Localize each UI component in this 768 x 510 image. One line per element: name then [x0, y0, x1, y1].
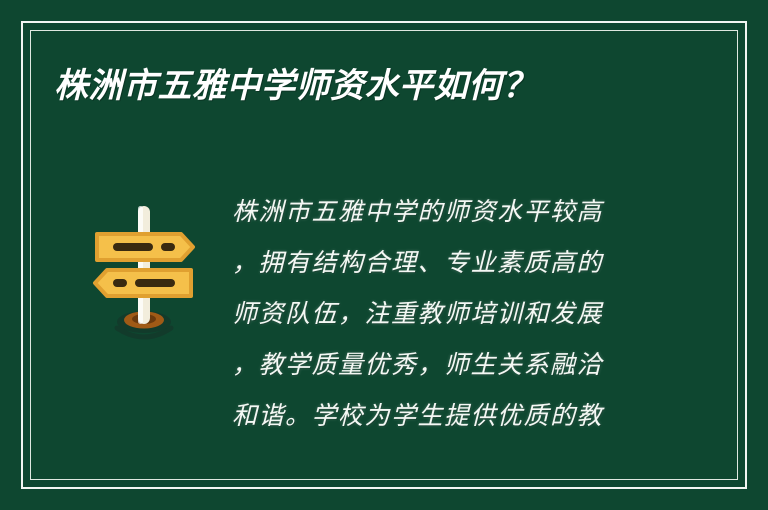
body-line: 株洲市五雅中学的师资水平较高 — [232, 186, 712, 237]
answer-card: 株洲市五雅中学师资水平如何？ — [0, 0, 768, 510]
body-line: 师资队伍，注重教师培训和发展 — [232, 288, 712, 339]
icon-container — [56, 186, 232, 350]
body-line: ，拥有结构合理、专业素质高的 — [232, 237, 712, 288]
body-line: ，教学质量优秀，师生关系融洽 — [232, 339, 712, 390]
signpost-icon — [89, 200, 199, 350]
answer-body-text: 株洲市五雅中学的师资水平较高 ，拥有结构合理、专业素质高的 师资队伍，注重教师培… — [232, 186, 712, 441]
content-area: 株洲市五雅中学的师资水平较高 ，拥有结构合理、专业素质高的 师资队伍，注重教师培… — [56, 186, 712, 466]
body-line: 和谐。学校为学生提供优质的教 — [232, 390, 712, 441]
page-title: 株洲市五雅中学师资水平如何？ — [54, 64, 694, 108]
